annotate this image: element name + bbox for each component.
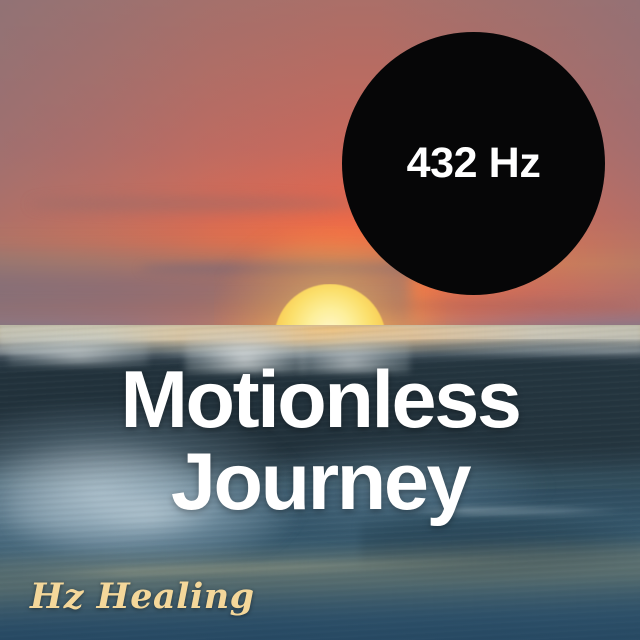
album-title-line-2: Journey [0, 444, 640, 522]
album-cover-artwork: 432 Hz Motionless Journey Hz Healing [0, 0, 640, 640]
frequency-badge: 432 Hz [342, 32, 605, 295]
album-title-line-1: Motionless [0, 362, 640, 440]
artist-name: Hz Healing [30, 576, 255, 617]
cloud-streak [30, 196, 360, 212]
album-title: Motionless Journey [0, 362, 640, 522]
frequency-badge-label: 432 Hz [407, 142, 541, 185]
